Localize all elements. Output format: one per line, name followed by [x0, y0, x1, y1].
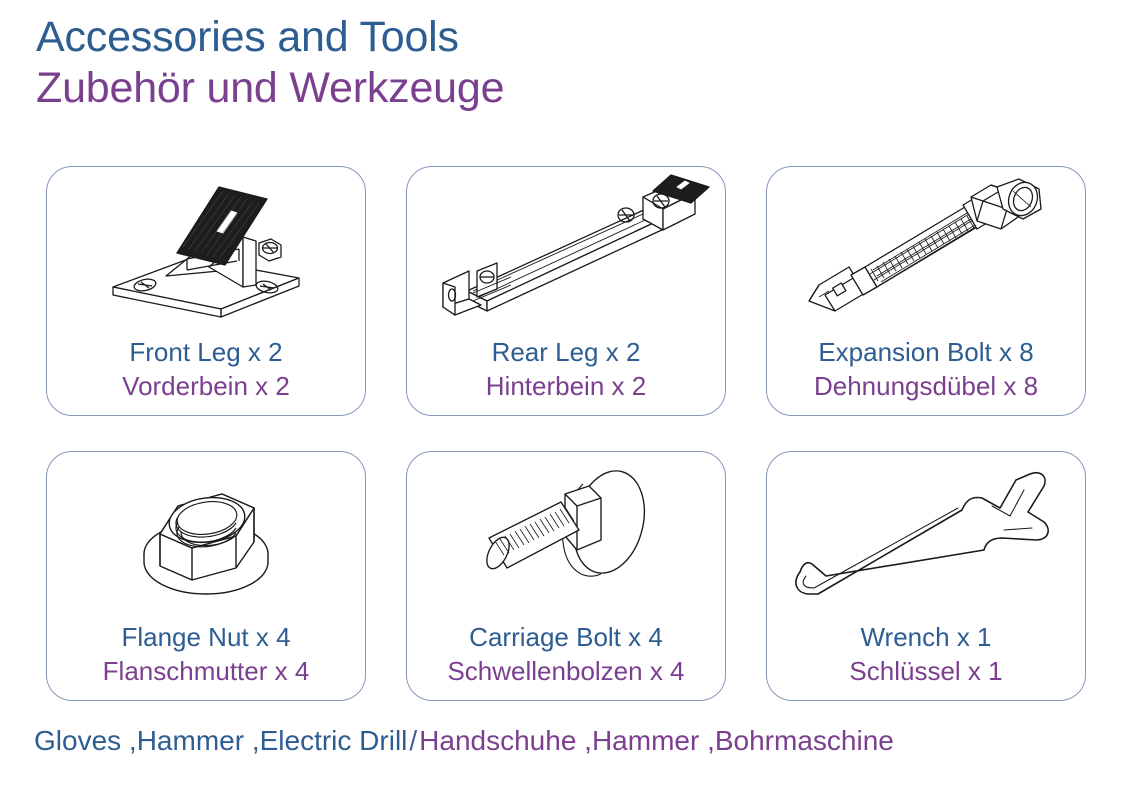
accessory-label-english: Carriage Bolt x 4 [391, 620, 741, 654]
card-labels: Expansion Bolt x 8 Dehnungsdübel x 8 [751, 335, 1101, 403]
flange-nut-icon [47, 456, 365, 614]
accessory-card-carriage-bolt[interactable]: Carriage Bolt x 4 Schwellenbolzen x 4 [406, 451, 726, 701]
accessory-label-english: Front Leg x 2 [31, 335, 381, 369]
accessory-label-german: Vorderbein x 2 [31, 369, 381, 403]
accessory-card-rear-leg[interactable]: Rear Leg x 2 Hinterbein x 2 [406, 166, 726, 416]
card-labels: Carriage Bolt x 4 Schwellenbolzen x 4 [391, 620, 741, 688]
accessory-card-expansion-bolt[interactable]: Expansion Bolt x 8 Dehnungsdübel x 8 [766, 166, 1086, 416]
page-title-german: Zubehör und Werkzeuge [36, 62, 504, 114]
accessory-label-german: Schlüssel x 1 [751, 654, 1101, 688]
page-title-english: Accessories and Tools [36, 12, 504, 62]
carriage-bolt-icon [407, 456, 725, 614]
footer-text-german: Handschuhe ,Hammer ,Bohrmaschine [419, 725, 894, 756]
footer-separator: / [407, 725, 419, 756]
accessory-card-flange-nut[interactable]: Flange Nut x 4 Flanschmutter x 4 [46, 451, 366, 701]
page-title-block: Accessories and Tools Zubehör und Werkze… [36, 12, 504, 114]
accessory-card-wrench[interactable]: Wrench x 1 Schlüssel x 1 [766, 451, 1086, 701]
accessory-label-german: Schwellenbolzen x 4 [391, 654, 741, 688]
expansion-bolt-icon [767, 171, 1085, 329]
accessory-label-english: Expansion Bolt x 8 [751, 335, 1101, 369]
rear-leg-rail-icon [407, 171, 725, 329]
accessory-label-german: Hinterbein x 2 [391, 369, 741, 403]
accessory-label-english: Flange Nut x 4 [31, 620, 381, 654]
accessory-card-front-leg[interactable]: Front Leg x 2 Vorderbein x 2 [46, 166, 366, 416]
card-labels: Rear Leg x 2 Hinterbein x 2 [391, 335, 741, 403]
accessory-label-english: Wrench x 1 [751, 620, 1101, 654]
accessory-label-german: Dehnungsdübel x 8 [751, 369, 1101, 403]
tools-footer-note: Gloves ,Hammer ,Electric Drill/Handschuh… [34, 722, 894, 760]
card-labels: Wrench x 1 Schlüssel x 1 [751, 620, 1101, 688]
accessory-label-english: Rear Leg x 2 [391, 335, 741, 369]
footer-text-english: Gloves ,Hammer ,Electric Drill [34, 725, 407, 756]
card-labels: Flange Nut x 4 Flanschmutter x 4 [31, 620, 381, 688]
accessories-grid: Front Leg x 2 Vorderbein x 2 [46, 166, 1086, 701]
wrench-icon [767, 456, 1085, 614]
card-labels: Front Leg x 2 Vorderbein x 2 [31, 335, 381, 403]
front-leg-bracket-icon [47, 171, 365, 329]
accessory-label-german: Flanschmutter x 4 [31, 654, 381, 688]
